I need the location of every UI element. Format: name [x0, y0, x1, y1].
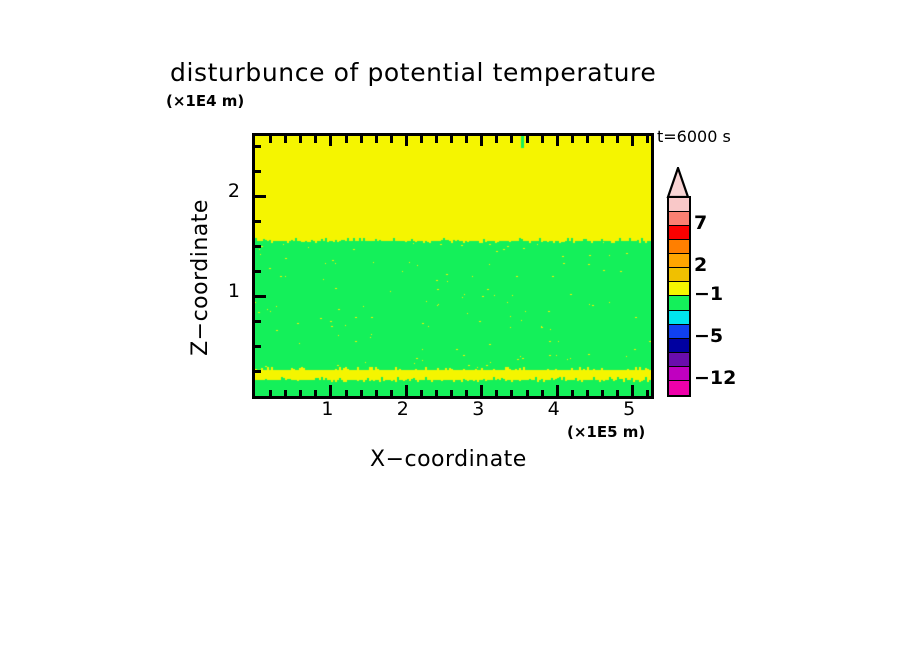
x-axis-top-tick [375, 136, 378, 143]
x-axis-minor-tick [465, 390, 468, 396]
x-axis-tick-label: 1 [307, 398, 347, 420]
y-axis-minor-tick [255, 345, 261, 348]
x-axis-minor-tick [299, 390, 302, 396]
x-axis-minor-tick [390, 390, 393, 396]
x-axis-major-tick [631, 385, 634, 396]
y-axis-minor-tick [255, 320, 261, 323]
x-axis-minor-tick [616, 390, 619, 396]
colorbar-band [669, 339, 689, 353]
x-axis-major-tick [329, 385, 332, 396]
x-axis-top-tick [345, 136, 348, 143]
x-axis-minor-tick [435, 390, 438, 396]
colorbar-band [669, 367, 689, 381]
x-axis-tick-label: 2 [383, 398, 423, 420]
y-axis-major-tick [255, 195, 266, 198]
colorbar-band [669, 212, 689, 226]
x-axis-major-tick [405, 385, 408, 396]
x-axis-top-tick [465, 136, 468, 143]
x-axis-top-tick [631, 136, 634, 146]
y-axis-minor-tick [255, 270, 261, 273]
x-axis-minor-tick [601, 390, 604, 396]
colorbar-band [669, 254, 689, 268]
x-axis-top-tick [360, 136, 363, 143]
y-axis-unit-label: (×1E4 m) [166, 92, 244, 110]
colorbar-band [669, 311, 689, 325]
x-axis-top-tick [556, 136, 559, 146]
x-axis-top-tick [284, 136, 287, 143]
y-axis-minor-tick [255, 170, 261, 173]
x-axis-minor-tick [375, 390, 378, 396]
x-axis-minor-tick [510, 390, 513, 396]
x-axis-top-tick [586, 136, 589, 143]
x-axis-top-tick [510, 136, 513, 143]
x-axis-top-tick [420, 136, 423, 143]
x-axis-minor-tick [420, 390, 423, 396]
colorbar-arrow-icon [665, 167, 691, 198]
x-axis-top-tick [526, 136, 529, 143]
time-annotation: t=6000 s [657, 127, 731, 146]
x-axis-top-tick [646, 136, 649, 143]
x-axis-top-tick [541, 136, 544, 143]
x-axis-minor-tick [269, 390, 272, 396]
x-axis-tick-label: 3 [458, 398, 498, 420]
colorbar-band [669, 240, 689, 254]
x-axis-top-tick [616, 136, 619, 143]
x-axis-minor-tick [360, 390, 363, 396]
x-axis-top-tick [405, 136, 408, 146]
x-axis-major-tick [556, 385, 559, 396]
colorbar-band [669, 268, 689, 282]
x-axis-major-tick [480, 385, 483, 396]
x-axis-top-tick [601, 136, 604, 143]
colorbar-band [669, 353, 689, 367]
x-axis-minor-tick [345, 390, 348, 396]
colorbar-band [669, 198, 689, 212]
x-axis-minor-tick [526, 390, 529, 396]
x-axis-top-tick [390, 136, 393, 143]
x-axis-top-tick [480, 136, 483, 146]
x-axis-minor-tick [541, 390, 544, 396]
x-axis-top-tick [571, 136, 574, 143]
x-axis-top-tick [299, 136, 302, 143]
y-axis-minor-tick [255, 145, 261, 148]
colorbar-band [669, 282, 689, 296]
y-axis-major-tick [255, 295, 266, 298]
x-axis-top-tick [269, 136, 272, 143]
y-axis-tick-label: 1 [200, 280, 240, 302]
colorbar-tick-label: −12 [694, 367, 736, 389]
x-axis-top-tick [435, 136, 438, 143]
x-axis-minor-tick [450, 390, 453, 396]
x-axis-minor-tick [586, 390, 589, 396]
plot-area [252, 133, 654, 399]
x-axis-tick-label: 4 [534, 398, 574, 420]
x-axis-top-tick [495, 136, 498, 143]
y-axis-minor-tick [255, 370, 261, 373]
y-axis-title-text: Z−coordinate [188, 170, 213, 385]
x-axis-minor-tick [495, 390, 498, 396]
colorbar-tick-label: −5 [694, 325, 723, 347]
colorbar-tick-label: 7 [694, 212, 707, 234]
y-axis-minor-tick [255, 245, 261, 248]
x-axis-minor-tick [571, 390, 574, 396]
x-axis-tick-label: 5 [609, 398, 649, 420]
colorbar-tick-label: −1 [694, 283, 723, 305]
x-axis-title: X−coordinate [370, 447, 527, 472]
temperature-field-heatmap [255, 136, 651, 396]
colorbar-band [669, 226, 689, 240]
x-axis-unit-label: (×1E5 m) [567, 423, 645, 441]
colorbar-band [669, 325, 689, 339]
y-axis-minor-tick [255, 220, 261, 223]
x-axis-minor-tick [314, 390, 317, 396]
x-axis-top-tick [450, 136, 453, 143]
x-axis-minor-tick [646, 390, 649, 396]
y-axis-tick-label: 2 [200, 180, 240, 202]
x-axis-top-tick [329, 136, 332, 146]
colorbar-tick-label: 2 [694, 254, 707, 276]
x-axis-minor-tick [284, 390, 287, 396]
page-title: disturbunce of potential temperature [170, 58, 656, 87]
x-axis-top-tick [314, 136, 317, 143]
colorbar [667, 196, 691, 397]
colorbar-band [669, 296, 689, 310]
colorbar-band [669, 381, 689, 395]
